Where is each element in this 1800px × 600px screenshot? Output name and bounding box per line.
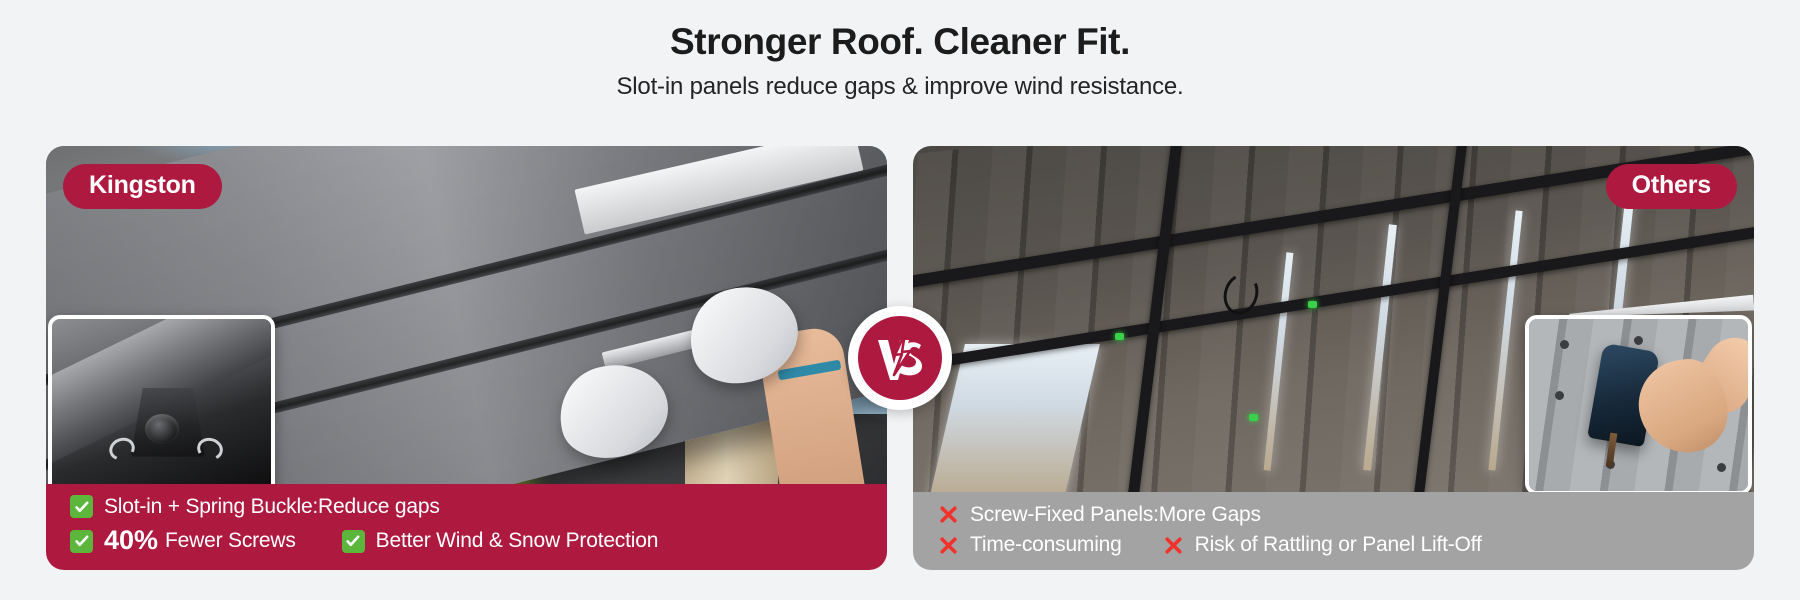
drilling-closeup-art xyxy=(1529,319,1748,491)
vs-lightning-icon xyxy=(869,327,931,389)
vs-circle xyxy=(858,316,942,400)
page-subtitle: Slot-in panels reduce gaps & improve win… xyxy=(0,73,1800,101)
vs-badge xyxy=(848,306,952,410)
caption-text: Screw-Fixed Panels:More Gaps xyxy=(970,501,1261,529)
caption-row: 40% Fewer Screws Better Wind & Snow Prot… xyxy=(70,523,863,559)
others-card: Others Sc xyxy=(913,146,1754,570)
page-header: Stronger Roof. Cleaner Fit. Slot-in pane… xyxy=(0,0,1800,101)
caption-item: Better Wind & Snow Protection xyxy=(342,527,659,555)
badge-others: Others xyxy=(1606,164,1737,209)
led-light xyxy=(1308,301,1317,308)
caption-row: Screw-Fixed Panels:More Gaps xyxy=(937,501,1730,529)
buckle-closeup-art xyxy=(52,319,271,491)
kingston-caption-bar: Slot-in + Spring Buckle:Reduce gaps 40% … xyxy=(46,484,887,570)
caption-item: Risk of Rattling or Panel Lift-Off xyxy=(1162,531,1482,559)
caption-item: Screw-Fixed Panels:More Gaps xyxy=(937,501,1261,529)
check-icon xyxy=(342,530,365,553)
kingston-inset-thumbnail xyxy=(48,315,275,495)
others-caption-bar: Screw-Fixed Panels:More Gaps Time-consum… xyxy=(913,492,1754,570)
cross-icon xyxy=(937,503,960,526)
led-light xyxy=(1115,333,1124,340)
caption-row: Time-consuming Risk of Rattling or Panel… xyxy=(937,531,1730,559)
kingston-card: Kingston Slot-in + Spring Buckle:Reduce … xyxy=(46,146,887,570)
caption-text: Slot-in + Spring Buckle:Reduce gaps xyxy=(104,493,440,521)
stat-value: 40% xyxy=(104,523,158,559)
buckle-hole xyxy=(145,414,179,444)
caption-text: Risk of Rattling or Panel Lift-Off xyxy=(1195,531,1482,559)
page-title: Stronger Roof. Cleaner Fit. xyxy=(0,22,1800,63)
caption-text: Fewer Screws xyxy=(165,527,296,555)
comparison-strip: Kingston Slot-in + Spring Buckle:Reduce … xyxy=(46,146,1754,570)
caption-item: 40% Fewer Screws xyxy=(70,523,296,559)
caption-item: Slot-in + Spring Buckle:Reduce gaps xyxy=(70,493,440,521)
check-icon xyxy=(70,530,93,553)
screw-head xyxy=(1560,340,1569,349)
caption-row: Slot-in + Spring Buckle:Reduce gaps xyxy=(70,493,863,521)
caption-text: Better Wind & Snow Protection xyxy=(376,527,659,555)
check-icon xyxy=(70,495,93,518)
led-light xyxy=(1249,414,1258,421)
badge-kingston: Kingston xyxy=(63,164,222,209)
caption-item: Time-consuming xyxy=(937,531,1122,559)
spring-wire xyxy=(106,434,138,464)
others-inset-thumbnail xyxy=(1525,315,1752,495)
caption-text: Time-consuming xyxy=(970,531,1122,559)
cross-icon xyxy=(937,534,960,557)
cross-icon xyxy=(1162,534,1185,557)
